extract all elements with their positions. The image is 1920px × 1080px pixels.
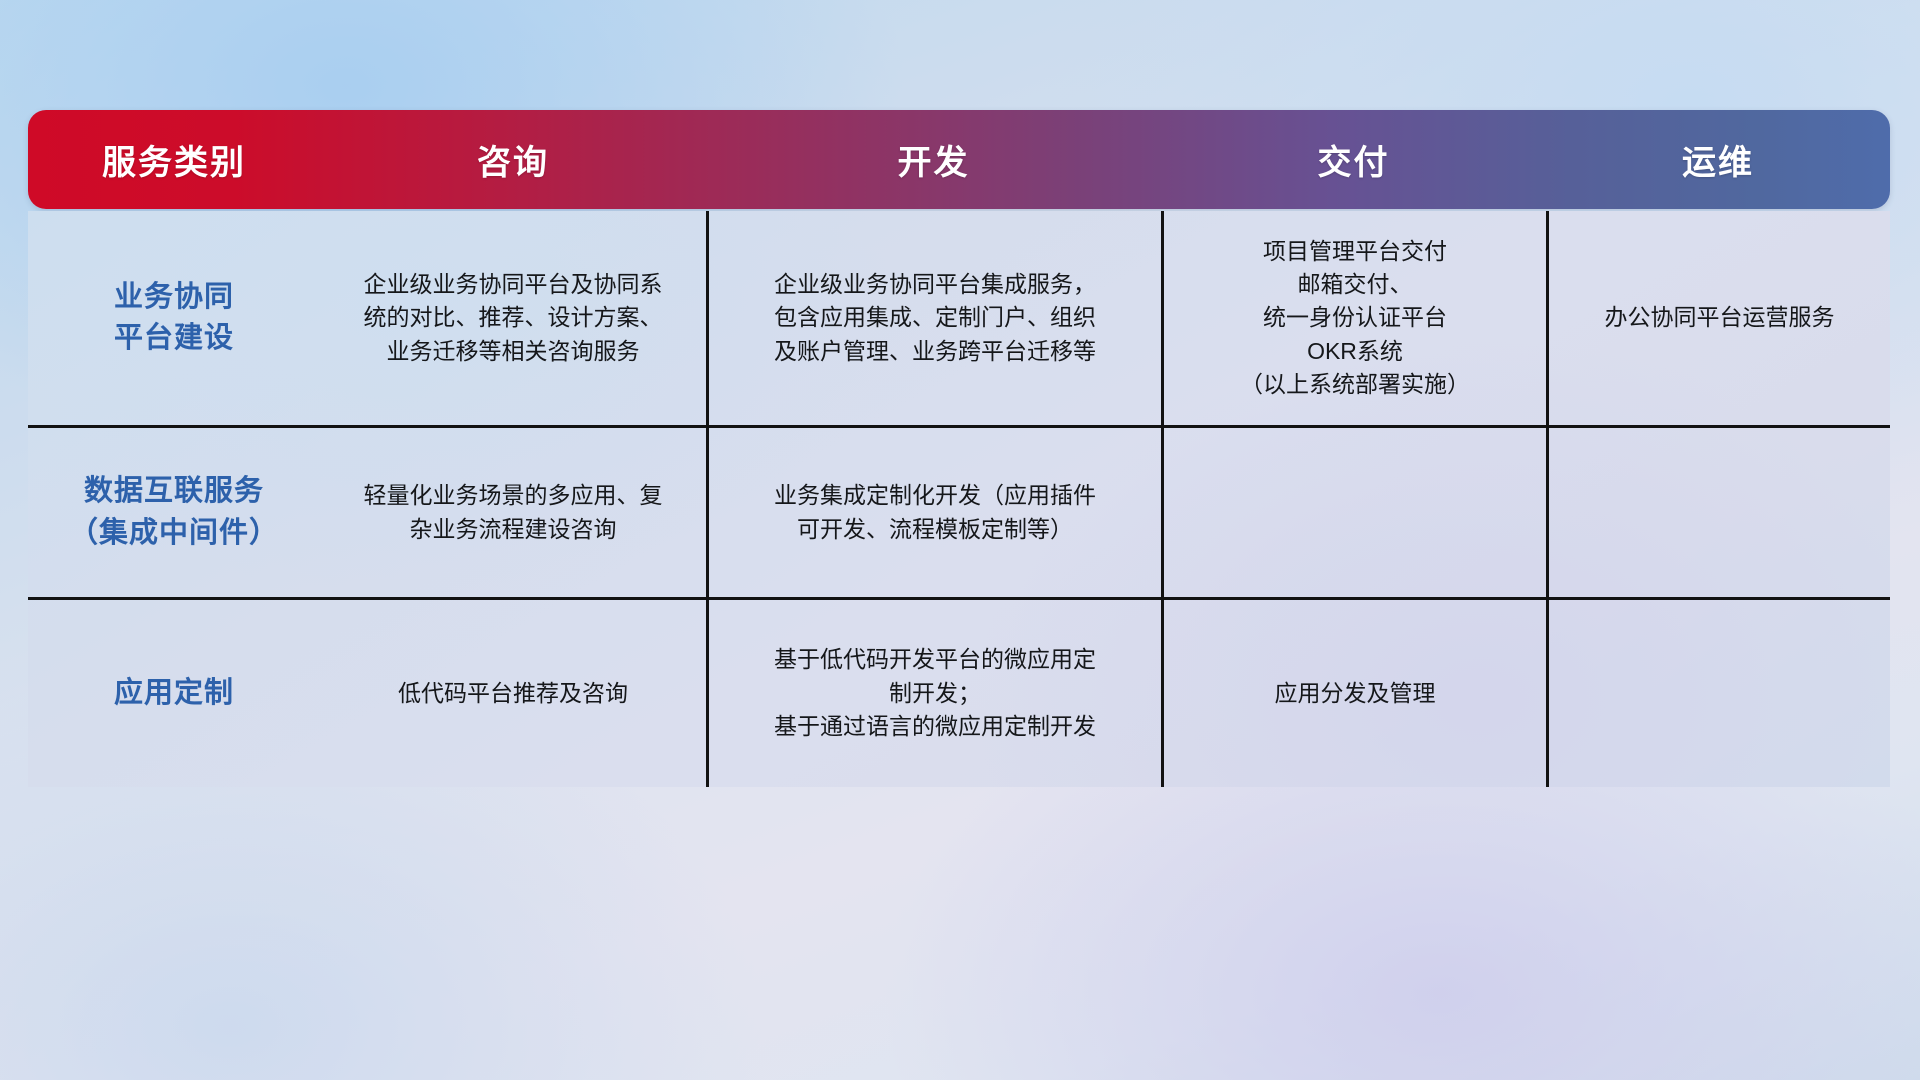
table-body: 业务协同 平台建设 企业级业务协同平台及协同系 统的对比、推荐、设计方案、 业务… [28,211,1890,787]
column-header-consulting: 咨询 [320,110,706,209]
column-header-development: 开发 [706,110,1161,209]
cell-operations [1546,600,1890,787]
table-row: 数据互联服务 （集成中间件） 轻量化业务场景的多应用、复 杂业务流程建设咨询 业… [28,428,1890,600]
cell-consulting: 企业级业务协同平台及协同系 统的对比、推荐、设计方案、 业务迁移等相关咨询服务 [320,211,706,425]
cell-development: 基于低代码开发平台的微应用定 制开发； 基于通过语言的微应用定制开发 [706,600,1161,787]
row-category-label: 应用定制 [28,600,320,787]
cell-delivery [1161,428,1546,597]
cell-consulting: 低代码平台推荐及咨询 [320,600,706,787]
column-header-category: 服务类别 [28,110,320,209]
cell-consulting: 轻量化业务场景的多应用、复 杂业务流程建设咨询 [320,428,706,597]
table-row: 应用定制 低代码平台推荐及咨询 基于低代码开发平台的微应用定 制开发； 基于通过… [28,600,1890,787]
cell-operations [1546,428,1890,597]
page-root: 服务类别 咨询 开发 交付 运维 业务协同 平台建设 企业级业务协同平台及协同系… [0,0,1920,1080]
cell-delivery: 项目管理平台交付 邮箱交付、 统一身份认证平台 OKR系统 （以上系统部署实施） [1161,211,1546,425]
cell-development: 业务集成定制化开发（应用插件 可开发、流程模板定制等） [706,428,1161,597]
column-header-delivery: 交付 [1161,110,1546,209]
row-category-label: 数据互联服务 （集成中间件） [28,428,320,597]
cell-development: 企业级业务协同平台集成服务， 包含应用集成、定制门户、组织 及账户管理、业务跨平… [706,211,1161,425]
table-row: 业务协同 平台建设 企业级业务协同平台及协同系 统的对比、推荐、设计方案、 业务… [28,211,1890,428]
table-header-row: 服务类别 咨询 开发 交付 运维 [28,110,1890,209]
cell-delivery: 应用分发及管理 [1161,600,1546,787]
cell-operations: 办公协同平台运营服务 [1546,211,1890,425]
column-header-operations: 运维 [1546,110,1890,209]
row-category-label: 业务协同 平台建设 [28,211,320,425]
service-matrix-table: 服务类别 咨询 开发 交付 运维 业务协同 平台建设 企业级业务协同平台及协同系… [28,110,1890,787]
